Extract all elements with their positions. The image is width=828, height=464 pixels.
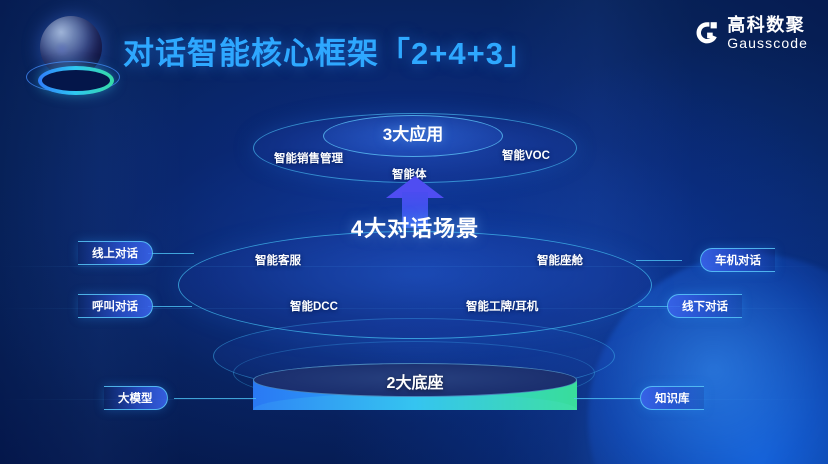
scene-node-dcc[interactable]: 智能DCC xyxy=(290,298,338,314)
slide-canvas: 对话智能核心框架「2+4+3」 高科数聚 Gausscode 3大应用 智能销售… xyxy=(0,0,828,464)
scene-node-badge-headset[interactable]: 智能工牌/耳机 xyxy=(466,298,538,314)
application-node-voc[interactable]: 智能VOC xyxy=(502,147,550,163)
connector-vehicle-dialog xyxy=(636,260,682,261)
base-platform: 2大底座 xyxy=(253,363,577,423)
scene-node-customer-service[interactable]: 智能客服 xyxy=(255,252,301,268)
pill-vehicle-dialog[interactable]: 车机对话 xyxy=(700,248,775,272)
pill-knowledge-base[interactable]: 知识库 xyxy=(640,386,704,410)
scenes-heading: 4大对话场景 xyxy=(288,211,542,243)
pill-call-dialog[interactable]: 呼叫对话 xyxy=(78,294,153,318)
connector-call-dialog xyxy=(148,306,192,307)
scene-node-cockpit[interactable]: 智能座舱 xyxy=(537,252,583,268)
base-heading: 2大底座 xyxy=(253,369,577,393)
pill-offline-dialog[interactable]: 线下对话 xyxy=(667,294,742,318)
connector-online-dialog xyxy=(148,253,194,254)
pill-online-dialog[interactable]: 线上对话 xyxy=(78,241,153,265)
framework-diagram: 3大应用 智能销售管理 智能VOC 智能体 4大对话场景 智能客服 智能座舱 智… xyxy=(0,0,828,464)
application-node-sales[interactable]: 智能销售管理 xyxy=(274,150,343,166)
connector-large-model xyxy=(174,398,256,399)
applications-heading: 3大应用 xyxy=(323,120,503,145)
scene-ellipse-outer xyxy=(178,231,652,339)
pill-large-model[interactable]: 大模型 xyxy=(104,386,168,410)
connector-knowledge-base xyxy=(574,398,640,399)
